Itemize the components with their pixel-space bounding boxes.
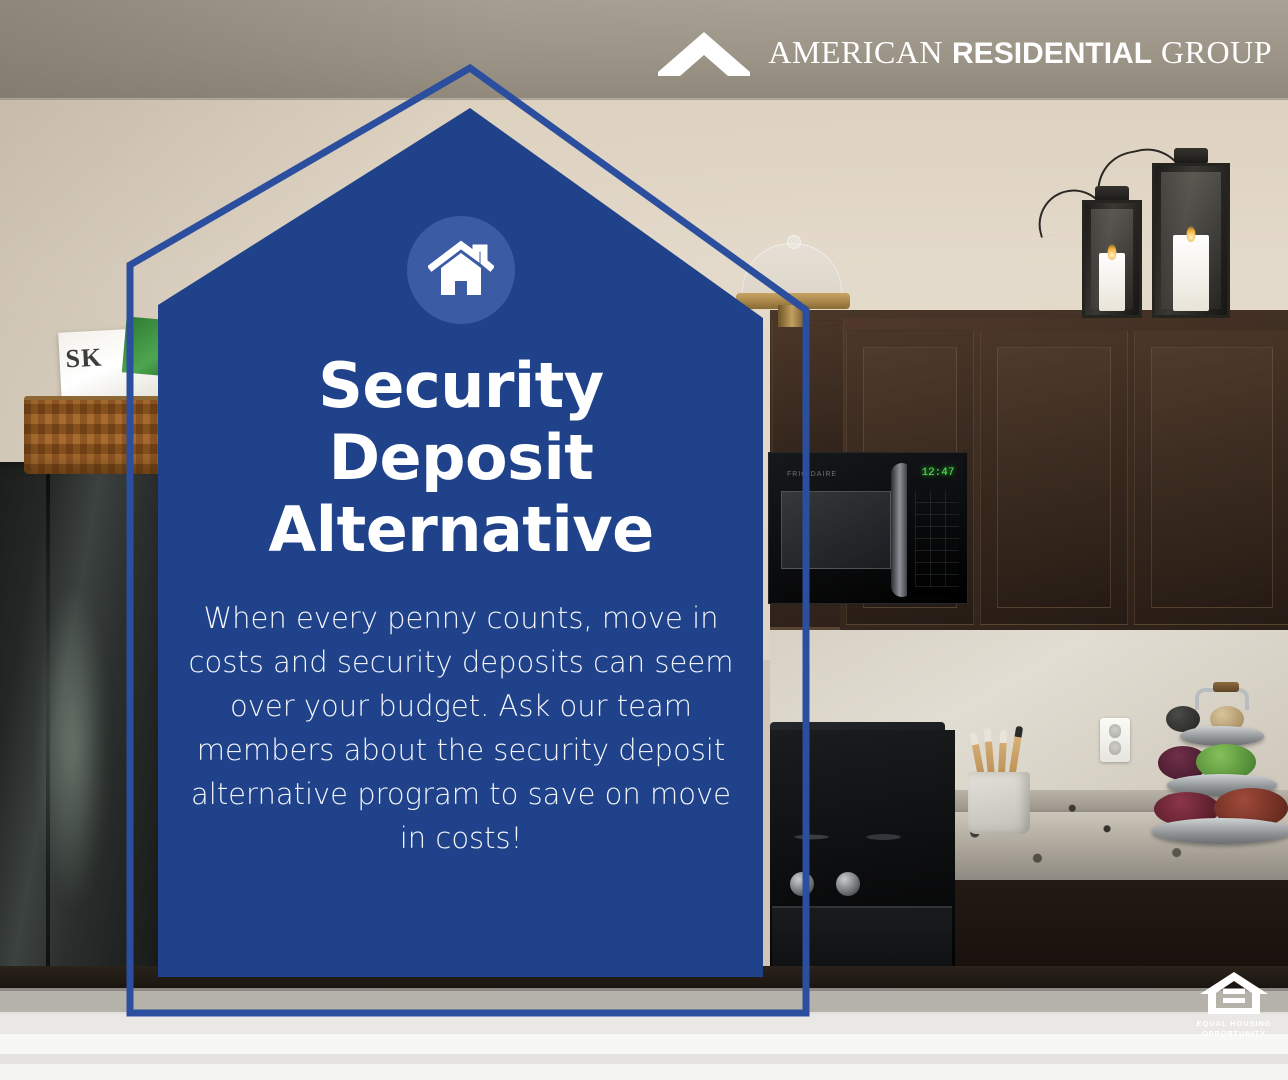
tray-tier: [1152, 818, 1288, 844]
counter-ledge: [0, 988, 1288, 1080]
brand-word-group: GROUP: [1161, 34, 1272, 71]
stove-burners: [772, 818, 952, 856]
lantern-large: [1152, 163, 1230, 318]
microwave-clock-display: 12:47: [917, 467, 959, 480]
candle: [1099, 253, 1125, 311]
cabinet-door: [980, 330, 1128, 625]
brand-wordmark: AMERICAN RESIDENTIAL GROUP: [768, 34, 1272, 71]
brand-word-residential: RESIDENTIAL: [952, 37, 1152, 71]
eho-caption: EQUAL HOUSING OPPORTUNITY: [1197, 1019, 1272, 1038]
roof-chevron-icon: [658, 28, 750, 76]
tiered-serving-tray: [1152, 688, 1288, 838]
cabinet-door: [1134, 330, 1288, 625]
house-icon: [428, 240, 494, 300]
microwave-window: [781, 491, 891, 569]
brand-word-american: AMERICAN: [768, 34, 943, 71]
tray-tier: [1180, 726, 1264, 746]
house-icon-badge: [407, 216, 515, 324]
headline-line-2: Deposit: [268, 422, 653, 494]
lantern-small: [1082, 200, 1142, 318]
microwave-keypad: [915, 491, 959, 587]
poster-canvas: SK FRIGIDAIRE 1: [0, 0, 1288, 1080]
headline-line-1: Security: [268, 350, 653, 422]
lantern-cap: [1174, 148, 1208, 164]
eho-line-1: EQUAL HOUSING: [1197, 1019, 1272, 1028]
flame-icon: [1187, 226, 1196, 242]
electrical-outlet: [1100, 718, 1130, 762]
headline-line-3: Alternative: [268, 494, 653, 566]
promo-card-content: Security Deposit Alternative When every …: [158, 108, 764, 978]
equal-housing-opportunity-logo: EQUAL HOUSING OPPORTUNITY: [1192, 970, 1276, 1038]
promo-body-text: When every penny counts, move in costs a…: [189, 596, 734, 860]
microwave-brand-label: FRIGIDAIRE: [787, 471, 837, 478]
brand-logo: AMERICAN RESIDENTIAL GROUP: [658, 28, 1272, 76]
range-knob: [790, 872, 814, 896]
wicker-basket: [24, 396, 164, 474]
eho-line-2: OPPORTUNITY: [1197, 1029, 1272, 1038]
snack-bag: SK: [58, 327, 167, 404]
snack-bag-label: SK: [65, 343, 103, 375]
cake-stand-stem: [778, 305, 806, 327]
range-knobs: [790, 872, 930, 898]
candle: [1173, 235, 1209, 311]
refrigerator: [0, 462, 172, 1022]
microwave: FRIGIDAIRE 12:47: [768, 452, 968, 604]
page-title: Security Deposit Alternative: [268, 350, 653, 566]
utensil-crock: [968, 772, 1030, 834]
flame-icon: [1108, 244, 1117, 260]
refrigerator-highlight: [38, 582, 108, 912]
range-knob: [836, 872, 860, 896]
equal-housing-opportunity-icon: [1198, 970, 1270, 1016]
